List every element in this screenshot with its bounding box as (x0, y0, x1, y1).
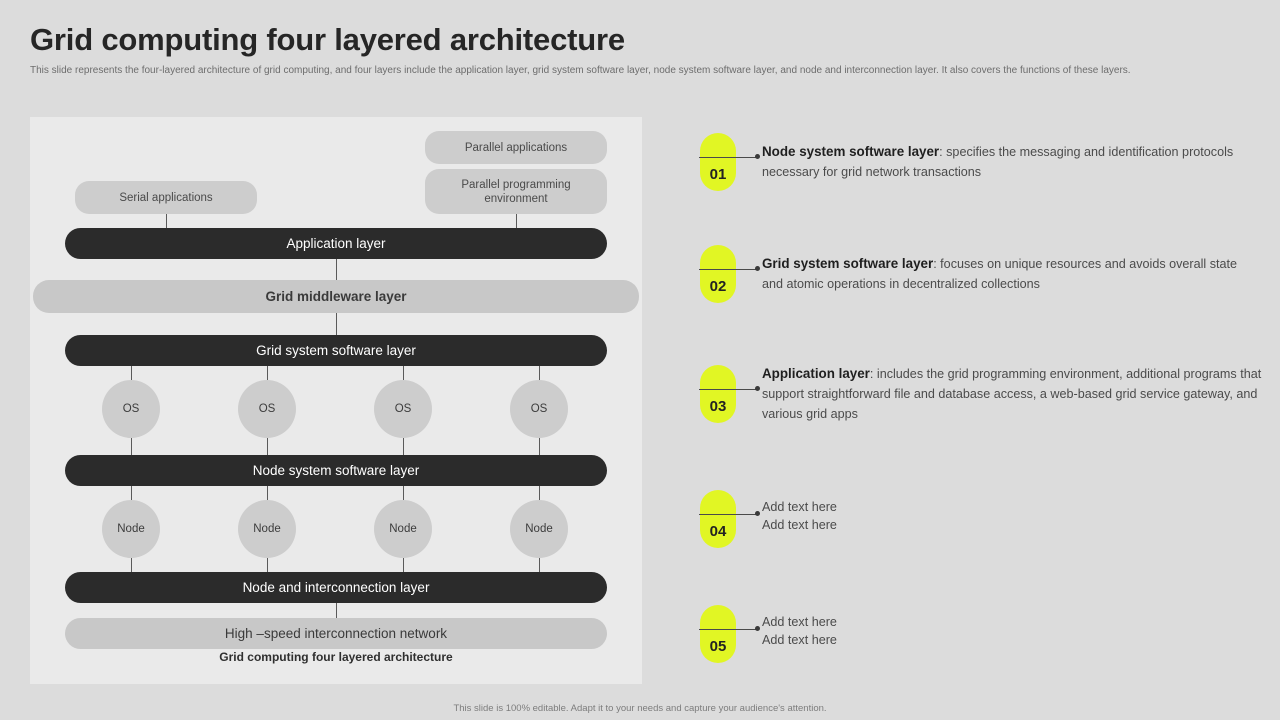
chip-serial-applications-label: Serial applications (119, 191, 212, 205)
list-item-text: Add text here Add text here (762, 613, 1252, 649)
connector-node-to-interconnection-1 (131, 558, 132, 572)
step-badge-number: 01 (710, 166, 727, 191)
chip-parallel-applications: Parallel applications (425, 131, 607, 164)
badge-connector-dot (755, 511, 760, 516)
connector-grid-to-os-3 (403, 366, 404, 380)
badge-connector-line (699, 269, 757, 270)
footer-note: This slide is 100% editable. Adapt it to… (0, 703, 1280, 714)
layer-application: Application layer (65, 228, 607, 259)
node-circle-label: Node (117, 523, 145, 535)
badge-connector-dot (755, 386, 760, 391)
list-item-text: Add text here Add text here (762, 498, 1252, 534)
badge-connector-line (699, 514, 757, 515)
connector-node-to-interconnection-2 (267, 558, 268, 572)
connector-node-to-interconnection-4 (539, 558, 540, 572)
connector-grid-to-os-4 (539, 366, 540, 380)
os-circle-label: OS (259, 403, 276, 415)
badge-connector-line (699, 157, 757, 158)
badge-connector-dot (755, 626, 760, 631)
layer-node-and-interconnection-label: Node and interconnection layer (243, 580, 430, 595)
connector-node-system-to-node-4 (539, 486, 540, 500)
badge-connector-line (699, 629, 757, 630)
list-item-text: Grid system software layer: focuses on u… (762, 254, 1252, 294)
os-circle-label: OS (395, 403, 412, 415)
layer-grid-system-software-label: Grid system software layer (256, 343, 416, 358)
layer-application-label: Application layer (286, 236, 385, 251)
page-title: Grid computing four layered architecture (30, 22, 625, 58)
step-badge: 04 (700, 490, 736, 548)
layer-node-system-software-label: Node system software layer (253, 463, 420, 478)
architecture-diagram-panel: Parallel applications Parallel programmi… (30, 117, 642, 684)
chip-parallel-applications-label: Parallel applications (465, 141, 567, 155)
layer-grid-middleware-label: Grid middleware layer (265, 289, 406, 304)
step-badge: 03 (700, 365, 736, 423)
diagram-caption: Grid computing four layered architecture (30, 650, 642, 664)
os-circle: OS (238, 380, 296, 438)
step-badge: 02 (700, 245, 736, 303)
os-circle: OS (102, 380, 160, 438)
connector-parallel-to-application (516, 214, 517, 228)
node-circle: Node (374, 500, 432, 558)
layer-grid-system-software: Grid system software layer (65, 335, 607, 366)
list-item-title: Grid system software layer (762, 256, 933, 271)
step-badge-number: 03 (710, 398, 727, 423)
chip-serial-applications: Serial applications (75, 181, 257, 214)
connector-serial-to-application (166, 214, 167, 228)
node-circle-label: Node (253, 523, 281, 535)
list-item-line-1: Add text here (762, 498, 1252, 516)
connector-grid-to-os-1 (131, 366, 132, 380)
connector-middleware-to-grid-system (336, 313, 337, 335)
os-circle: OS (374, 380, 432, 438)
connector-os-to-node-system-1 (131, 438, 132, 455)
list-item-text: Node system software layer: specifies th… (762, 142, 1252, 182)
node-circle-label: Node (525, 523, 553, 535)
layer-high-speed-network: High –speed interconnection network (65, 618, 607, 649)
connector-node-system-to-node-3 (403, 486, 404, 500)
connector-grid-to-os-2 (267, 366, 268, 380)
list-item-title: Application layer (762, 366, 870, 381)
layer-node-system-software: Node system software layer (65, 455, 607, 486)
step-badge: 05 (700, 605, 736, 663)
connector-application-to-middleware (336, 259, 337, 280)
connector-node-to-interconnection-3 (403, 558, 404, 572)
step-badge-number: 05 (710, 638, 727, 663)
node-circle: Node (510, 500, 568, 558)
os-circle: OS (510, 380, 568, 438)
list-item-text: Application layer: includes the grid pro… (762, 364, 1262, 424)
layer-grid-middleware: Grid middleware layer (33, 280, 639, 313)
node-circle-label: Node (389, 523, 417, 535)
connector-os-to-node-system-2 (267, 438, 268, 455)
list-item-line-2: Add text here (762, 631, 1252, 649)
list-item-line-1: Add text here (762, 613, 1252, 631)
connector-os-to-node-system-4 (539, 438, 540, 455)
connector-interconnection-to-network (336, 603, 337, 618)
list-item-line-2: Add text here (762, 516, 1252, 534)
os-circle-label: OS (123, 403, 140, 415)
layer-node-and-interconnection: Node and interconnection layer (65, 572, 607, 603)
page-subtitle: This slide represents the four-layered a… (30, 64, 1222, 77)
chip-parallel-programming-environment: Parallel programming environment (425, 169, 607, 214)
step-badge: 01 (700, 133, 736, 191)
step-badge-number: 04 (710, 523, 727, 548)
connector-node-system-to-node-2 (267, 486, 268, 500)
layer-high-speed-network-label: High –speed interconnection network (225, 626, 447, 641)
chip-parallel-programming-environment-label: Parallel programming environment (433, 178, 599, 206)
step-badge-number: 02 (710, 278, 727, 303)
badge-connector-dot (755, 154, 760, 159)
node-circle: Node (238, 500, 296, 558)
connector-node-system-to-node-1 (131, 486, 132, 500)
node-circle: Node (102, 500, 160, 558)
badge-connector-line (699, 389, 757, 390)
badge-connector-dot (755, 266, 760, 271)
os-circle-label: OS (531, 403, 548, 415)
list-item-title: Node system software layer (762, 144, 939, 159)
connector-os-to-node-system-3 (403, 438, 404, 455)
